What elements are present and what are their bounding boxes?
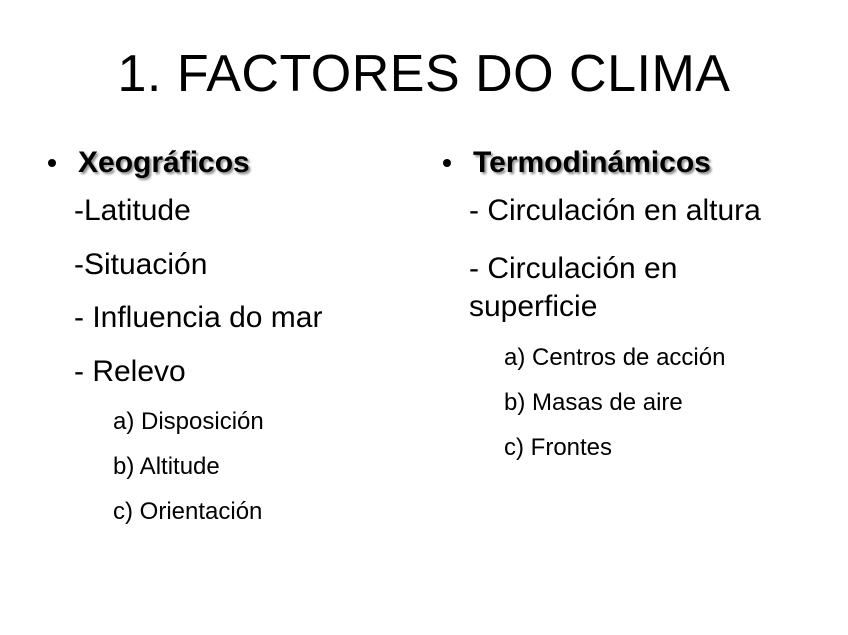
list-item: c) Frontes (435, 436, 835, 460)
list-item: -Latitude (40, 196, 430, 227)
list-item: a) Centros de acción (435, 346, 835, 370)
slide: 1. FACTORES DO CLIMA Xeográficos -Latitu… (0, 0, 848, 635)
sublist-relevo: a) Disposición b) Altitude c) Orientació… (40, 410, 430, 524)
list-item: - Influencia do mar (40, 303, 430, 334)
content-column-left: Xeográficos -Latitude -Situación - Influ… (40, 148, 430, 524)
heading-label: Xeográficos (78, 146, 250, 179)
list-item: -Situación (40, 250, 430, 281)
list-item: - Circulación en altura (435, 196, 835, 227)
list-item: a) Disposición (40, 410, 430, 434)
page-title: 1. FACTORES DO CLIMA (0, 46, 848, 102)
list-item-heading-termodinamicos: Termodinámicos (435, 148, 835, 178)
sublist-circulacion: a) Centros de acción b) Masas de aire c)… (435, 346, 835, 460)
list-item: b) Masas de aire (435, 391, 835, 415)
bullet-icon (48, 159, 56, 167)
heading-label: Termodinámicos (473, 146, 711, 179)
list-item: c) Orientación (40, 500, 430, 524)
list-item: - Circulación en superficie (435, 250, 719, 327)
bullet-icon (443, 159, 451, 167)
list-item: - Relevo (40, 357, 430, 388)
list-item: b) Altitude (40, 455, 430, 479)
content-column-right: Termodinámicos - Circulación en altura -… (435, 148, 835, 460)
list-item-heading-xeograficos: Xeográficos (40, 148, 430, 178)
